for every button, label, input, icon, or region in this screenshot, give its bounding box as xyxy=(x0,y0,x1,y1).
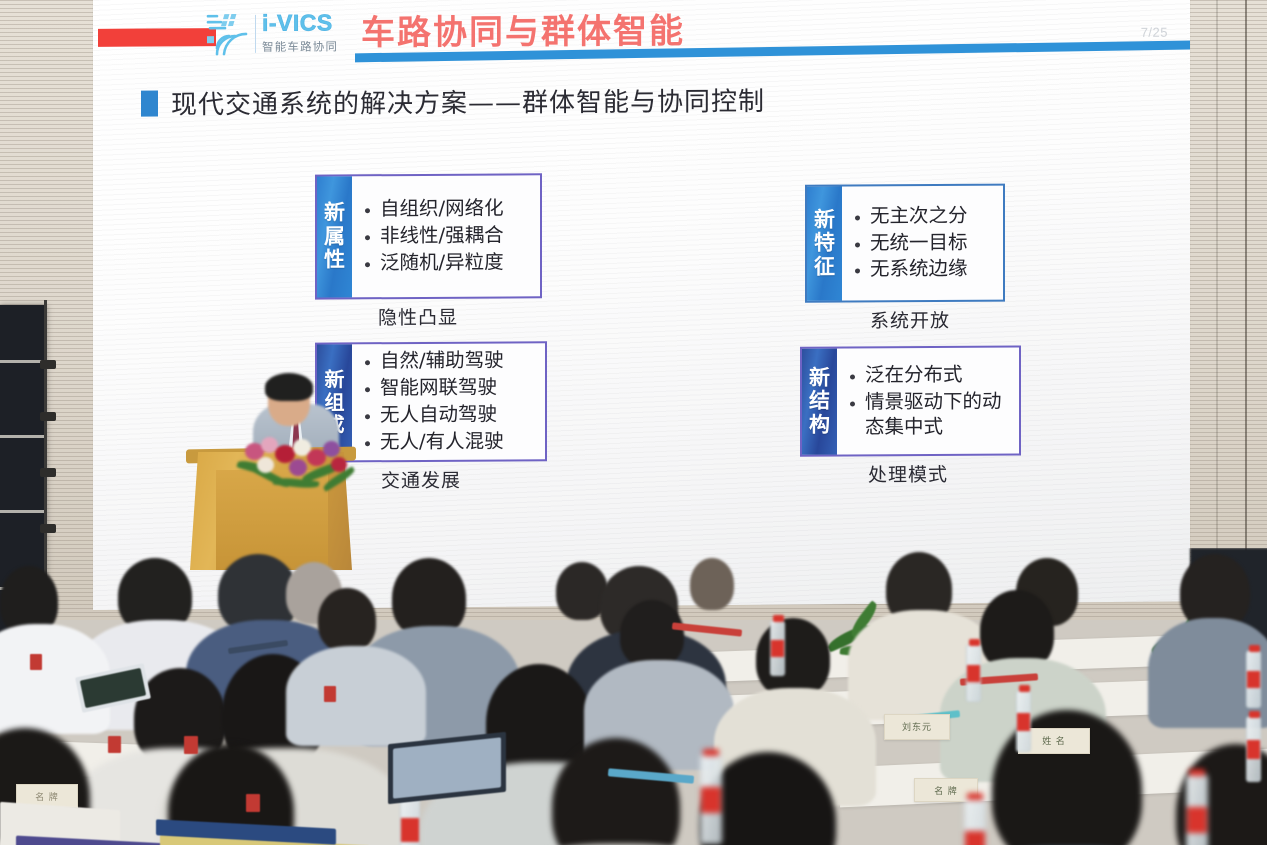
box-new-structure-list: 泛在分布式 情景驱动下的动态集中式 xyxy=(837,348,1019,455)
wall-seam-right-2 xyxy=(1216,0,1218,620)
subtitle-bullet-square xyxy=(141,90,158,116)
caption-new-composition: 交通发展 xyxy=(381,466,461,493)
badge xyxy=(246,794,260,812)
subtitle-row: 现代交通系统的解决方案——群体智能与协同控制 xyxy=(141,81,765,122)
water-bottle xyxy=(964,798,986,845)
screenshot-root: i-VICS 智能车路协同 车路协同与群体智能 7/25 现代交通系统的解决方案… xyxy=(0,0,1267,845)
audience-head xyxy=(620,600,684,668)
list-item: 无系统边缘 xyxy=(853,256,995,284)
logo-wordmark: i-VICS xyxy=(262,11,338,34)
speaker-hair xyxy=(265,373,313,401)
box-new-composition-list: 自然/辅助驾驶 智能网联驾驶 无人自动驾驶 无人/有人混驶 xyxy=(352,343,545,460)
water-bottle xyxy=(966,644,981,702)
water-bottle xyxy=(1246,650,1261,708)
list-item: 泛在分布式 xyxy=(848,362,1011,390)
tab-char: 新 xyxy=(814,208,835,232)
tab-char: 新 xyxy=(809,366,830,390)
tab-char: 属 xyxy=(324,225,345,249)
tab-char: 新 xyxy=(324,202,345,226)
list-item: 情景驱动下的动态集中式 xyxy=(848,389,1011,441)
water-bottle xyxy=(1016,690,1031,752)
subtitle-text: 现代交通系统的解决方案——群体智能与协同控制 xyxy=(171,81,765,121)
logo-divider xyxy=(255,14,256,52)
box-new-features-tab: 新 特 征 xyxy=(807,187,842,301)
tab-char: 性 xyxy=(324,249,345,273)
wifi-waves-icon xyxy=(203,11,249,55)
water-bottle xyxy=(770,620,785,676)
audience-head xyxy=(318,588,376,652)
list-item: 泛随机/异粒度 xyxy=(363,249,532,277)
audience-head xyxy=(690,558,734,610)
box-new-attributes-list: 自组织/网络化 非线性/强耦合 泛随机/异粒度 xyxy=(352,175,540,297)
box-new-structure: 新 结 构 泛在分布式 情景驱动下的动态集中式 xyxy=(800,346,1021,457)
list-item: 无人/有人混驶 xyxy=(363,428,537,456)
water-bottle xyxy=(700,754,722,844)
box-new-structure-tab: 新 结 构 xyxy=(802,349,837,455)
list-item: 无统一目标 xyxy=(853,229,995,257)
list-item: 自组织/网络化 xyxy=(363,195,532,223)
header-red-bar xyxy=(98,28,216,47)
caption-new-attributes: 隐性凸显 xyxy=(378,303,458,330)
badge xyxy=(30,654,42,670)
badge xyxy=(108,736,121,753)
list-item: 非线性/强耦合 xyxy=(363,222,532,250)
audience-shoulders xyxy=(286,646,426,746)
laptop[interactable] xyxy=(388,732,506,804)
slide-title: 车路协同与群体智能 xyxy=(361,3,685,54)
caption-new-structure: 处理模式 xyxy=(868,460,948,487)
badge xyxy=(324,686,336,702)
tab-char: 新 xyxy=(325,369,345,392)
logo-subtext: 智能车路协同 xyxy=(262,38,338,54)
water-bottle xyxy=(1246,716,1261,782)
list-item: 智能网联驾驶 xyxy=(363,374,537,402)
badge xyxy=(184,736,198,754)
audience-head xyxy=(756,618,830,698)
page-number: 7/25 xyxy=(1141,25,1168,40)
box-new-attributes-tab: 新 属 性 xyxy=(317,176,352,297)
name-card: 刘东元 xyxy=(884,714,950,740)
audience-area: 刘东元 名 牌 姓 名 名 牌 xyxy=(0,548,1267,845)
caption-new-features: 系统开放 xyxy=(870,306,950,333)
list-item: 无主次之分 xyxy=(853,202,995,230)
list-item: 无人自动驾驶 xyxy=(363,401,537,429)
water-bottle xyxy=(1186,774,1208,845)
tab-char: 结 xyxy=(809,390,830,414)
tab-char: 征 xyxy=(814,255,835,279)
tab-char: 构 xyxy=(809,413,830,437)
box-new-attributes: 新 属 性 自组织/网络化 非线性/强耦合 泛随机/异粒度 xyxy=(315,173,542,299)
wall-seam-right xyxy=(1245,0,1247,620)
box-new-features-list: 无主次之分 无统一目标 无系统边缘 xyxy=(842,186,1003,301)
ivics-logo: i-VICS 智能车路协同 xyxy=(203,5,351,61)
list-item: 自然/辅助驾驶 xyxy=(363,347,537,375)
flower-arrangement xyxy=(243,437,353,487)
box-new-features: 新 特 征 无主次之分 无统一目标 无系统边缘 xyxy=(805,184,1005,303)
tab-char: 特 xyxy=(814,232,835,256)
